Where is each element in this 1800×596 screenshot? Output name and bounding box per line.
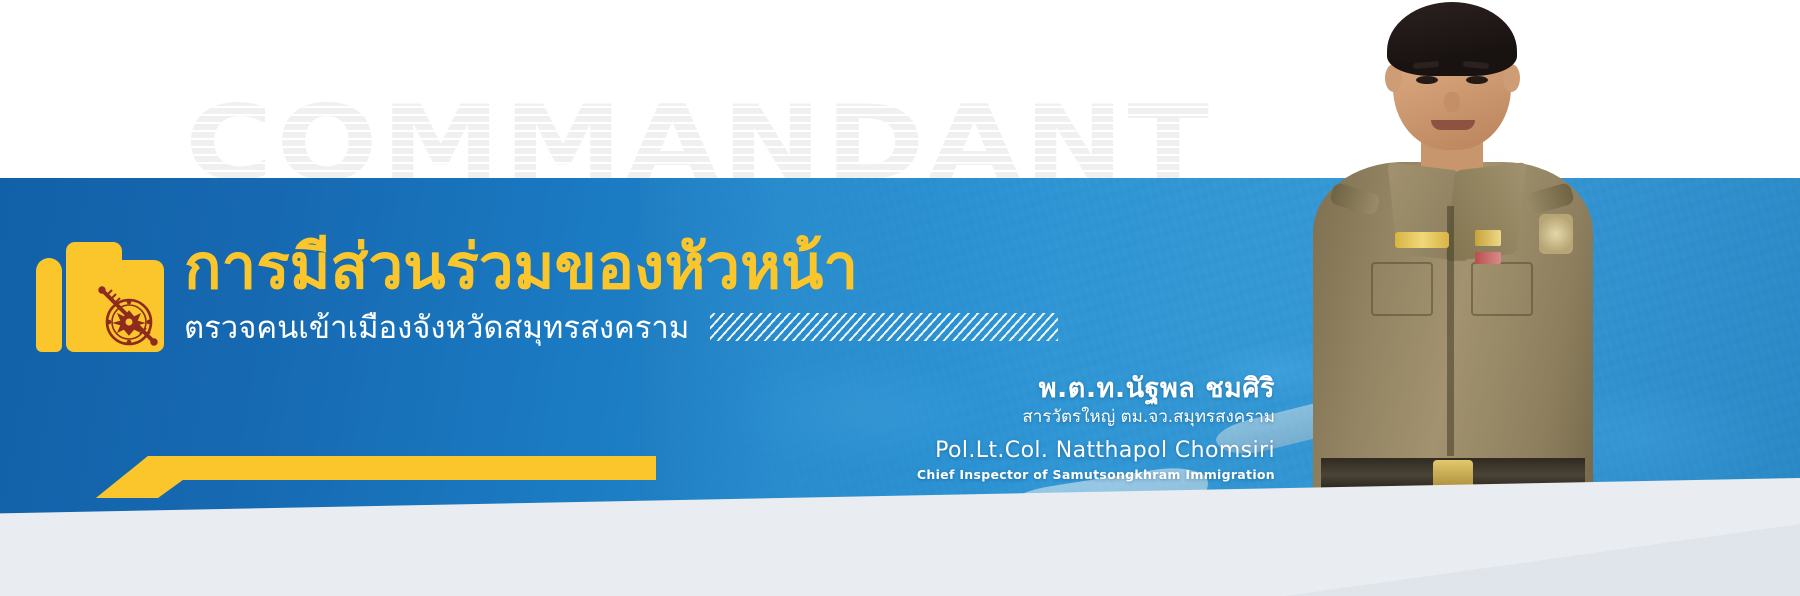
officer-name-english: Pol.Lt.Col. Natthapol Chomsiri (795, 436, 1275, 466)
page-subtitle: ตรวจคนเข้าเมืองจังหวัดสมุทรสงคราม (184, 310, 689, 346)
portrait-collar-right (1445, 162, 1526, 262)
portrait-nose (1444, 92, 1460, 112)
page-title: การมีส่วนร่วมของหัวหน้า (184, 232, 858, 302)
diagonal-hatch-decor (710, 313, 1058, 341)
officer-name-block: พ.ต.ท.นัฐพล ชมศิริ สารวัตรใหญ่ ตม.จว.สมุ… (795, 372, 1275, 483)
portrait-mouth (1431, 120, 1475, 130)
folder-icon (36, 232, 164, 352)
portrait-name-badge (1475, 230, 1501, 246)
folder-back-sheet (36, 258, 62, 352)
portrait-eye-left (1416, 76, 1438, 84)
officer-rank-english: Chief Inspector of Samutsongkhram Immigr… (795, 466, 1275, 483)
officer-name-thai: พ.ต.ท.นัฐพล ชมศิริ (795, 372, 1275, 405)
portrait-pocket-left (1371, 262, 1433, 316)
banner-root: COMMANDANT DESIGNED BY MR. PHANTHIT MALU… (0, 0, 1800, 596)
portrait-ribbon-badge (1475, 252, 1501, 264)
portrait-pocket-right (1471, 262, 1533, 316)
portrait-wing-insignia (1395, 232, 1449, 248)
royal-thai-police-emblem-icon (96, 286, 162, 352)
portrait-shoulder-patch (1539, 214, 1573, 254)
officer-rank-thai: สารวัตรใหญ่ ตม.จว.สมุทรสงคราม (795, 405, 1275, 429)
portrait-eye-right (1466, 76, 1488, 84)
